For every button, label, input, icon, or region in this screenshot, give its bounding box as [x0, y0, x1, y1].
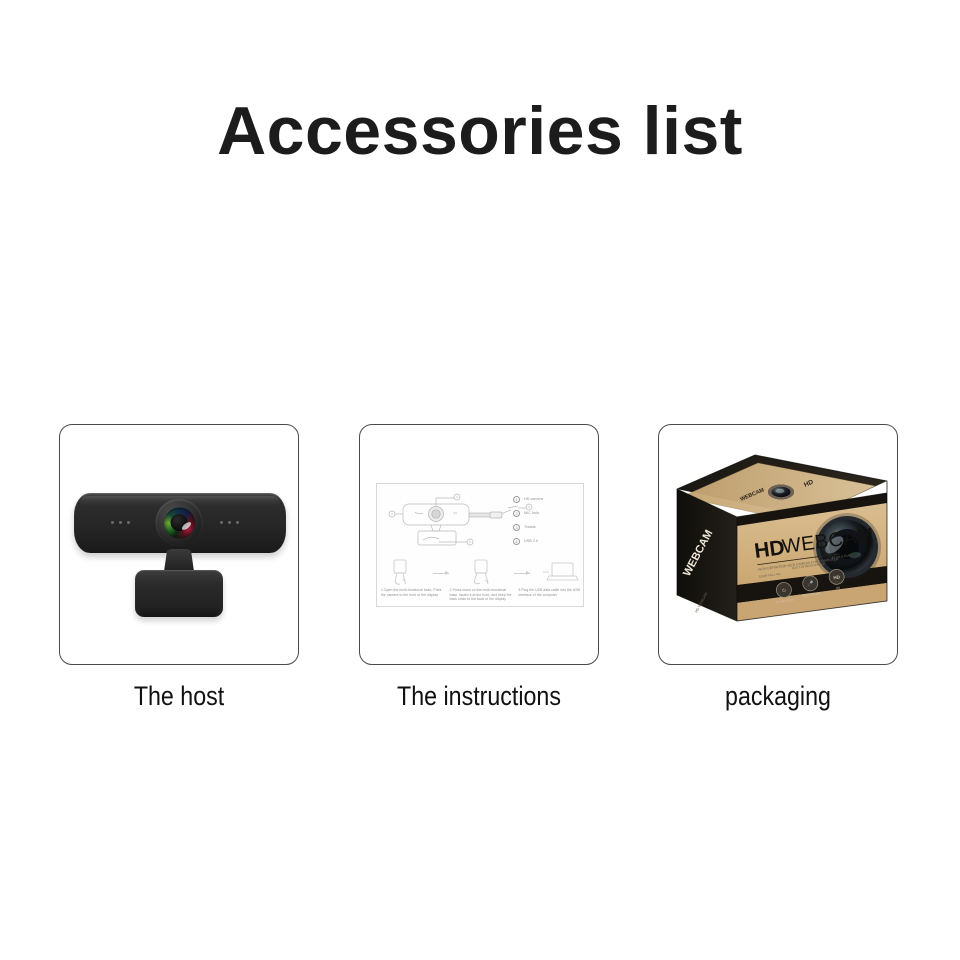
legend-number: 2	[513, 510, 520, 517]
legend-item: 4 USB 2.0	[513, 538, 575, 545]
svg-text:2: 2	[391, 512, 393, 516]
legend-label: HD camera	[524, 497, 543, 502]
mic-holes-left	[111, 521, 130, 524]
legend-number: 1	[513, 496, 520, 503]
step-1-illustration	[381, 558, 419, 588]
retail-box-graphic: WEBCAM HD WEBCAM HD WEBCAM	[659, 425, 898, 665]
step-caption: 2.Press down on the multi-functional bas…	[450, 588, 513, 602]
webcam-device-photo	[60, 425, 298, 664]
legend-label: Treads	[524, 525, 536, 530]
instructions-image-frame: 1 2 4 3 1 HD camera 2 MIC hole	[359, 424, 599, 665]
caption-host: The host	[76, 679, 282, 713]
legend-item: 2 MIC hole	[513, 510, 575, 517]
accessory-item-host: The host	[59, 424, 299, 713]
instruction-manual-sheet: 1 2 4 3 1 HD camera 2 MIC hole	[376, 483, 584, 607]
step-arrow-icon	[433, 573, 449, 574]
webcam-lens	[156, 499, 203, 546]
svg-text:HD: HD	[836, 585, 841, 590]
manual-steps-captions: 1.Open the multi-functional base, Point …	[381, 588, 581, 602]
legend-number: 4	[513, 538, 520, 545]
svg-text:1: 1	[456, 495, 458, 499]
accessory-item-packaging: WEBCAM HD WEBCAM HD WEBCAM	[658, 424, 898, 713]
page-title: Accessories list	[0, 92, 960, 170]
step-2-illustration	[462, 558, 500, 588]
svg-text:3: 3	[469, 540, 471, 544]
step-3-illustration	[543, 558, 581, 588]
legend-item: 3 Treads	[513, 524, 575, 531]
step-caption: 1.Open the multi-functional base, Point …	[381, 588, 444, 602]
caption-packaging: packaging	[675, 679, 881, 713]
webcam-base-clip	[135, 570, 223, 617]
packaging-image-frame: WEBCAM HD WEBCAM HD WEBCAM	[658, 424, 898, 665]
legend-number: 3	[513, 524, 520, 531]
legend-label: USB 2.0	[524, 539, 538, 544]
manual-steps-illustrations	[381, 558, 581, 588]
mic-holes-right	[220, 521, 239, 524]
legend-item: 1 HD camera	[513, 496, 575, 503]
retail-box-photo: WEBCAM HD WEBCAM HD WEBCAM	[659, 425, 897, 664]
step-arrow-icon	[514, 573, 530, 574]
host-image-frame	[59, 424, 299, 665]
manual-legend: 1 HD camera 2 MIC hole 3 Treads 4 USB 2.…	[513, 496, 575, 552]
accessory-item-instructions: 1 2 4 3 1 HD camera 2 MIC hole	[359, 424, 599, 713]
step-caption: 3.Plug the USB data cable into the USB i…	[518, 588, 581, 602]
caption-instructions: The instructions	[376, 679, 582, 713]
lens-iris	[164, 507, 195, 538]
accessories-card-row: The host	[0, 424, 960, 734]
legend-label: MIC hole	[524, 511, 539, 516]
